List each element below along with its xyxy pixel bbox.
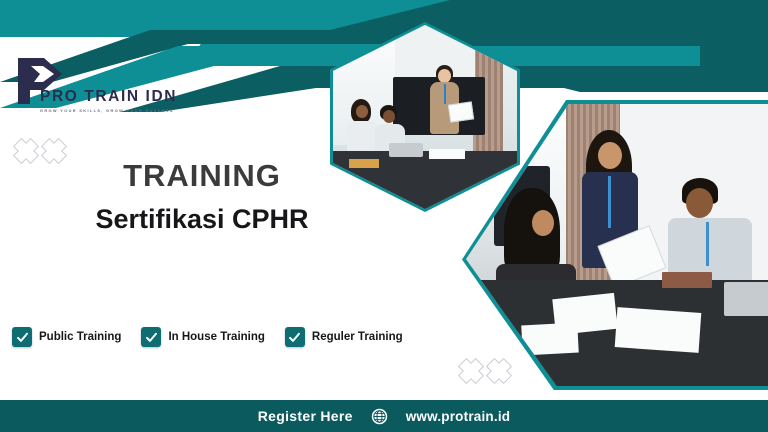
check-icon [144,330,159,345]
training-options: Public Training In House Training Regule… [12,327,403,347]
x-pattern-icon [458,358,484,384]
training-poster: PRO TRAIN IDN GROW YOUR SKILLS, GROW YOU… [0,0,768,432]
x-pattern-icon [486,358,512,384]
logo-wordmark: PRO TRAIN IDN GROW YOUR SKILLS, GROW YOU… [40,88,176,113]
brand-logo: PRO TRAIN IDN GROW YOUR SKILLS, GROW YOU… [14,52,174,124]
option-public-training[interactable]: Public Training [12,327,121,347]
register-here-label[interactable]: Register Here [258,408,353,424]
checkbox-in-house-training[interactable] [141,327,161,347]
logo-name: PRO TRAIN IDN [40,88,176,106]
page-title: TRAINING [0,158,404,194]
checkbox-reguler-training[interactable] [285,327,305,347]
checkbox-public-training[interactable] [12,327,32,347]
x-cluster-bottom [458,358,512,384]
option-label: In House Training [168,331,264,343]
check-icon [287,330,302,345]
option-in-house-training[interactable]: In House Training [141,327,264,347]
logo-tagline: GROW YOUR SKILLS, GROW YOUR SUCCESS [40,108,176,113]
page-subtitle: Sertifikasi CPHR [0,204,404,235]
option-label: Reguler Training [312,331,403,343]
photo-hex-large-image [466,104,768,386]
option-reguler-training[interactable]: Reguler Training [285,327,403,347]
footer-bar: Register Here www.protrain.id [0,400,768,432]
globe-icon [371,408,388,425]
photo-hex-large [462,100,768,390]
website-url[interactable]: www.protrain.id [406,409,511,424]
option-label: Public Training [39,331,121,343]
check-icon [15,330,30,345]
